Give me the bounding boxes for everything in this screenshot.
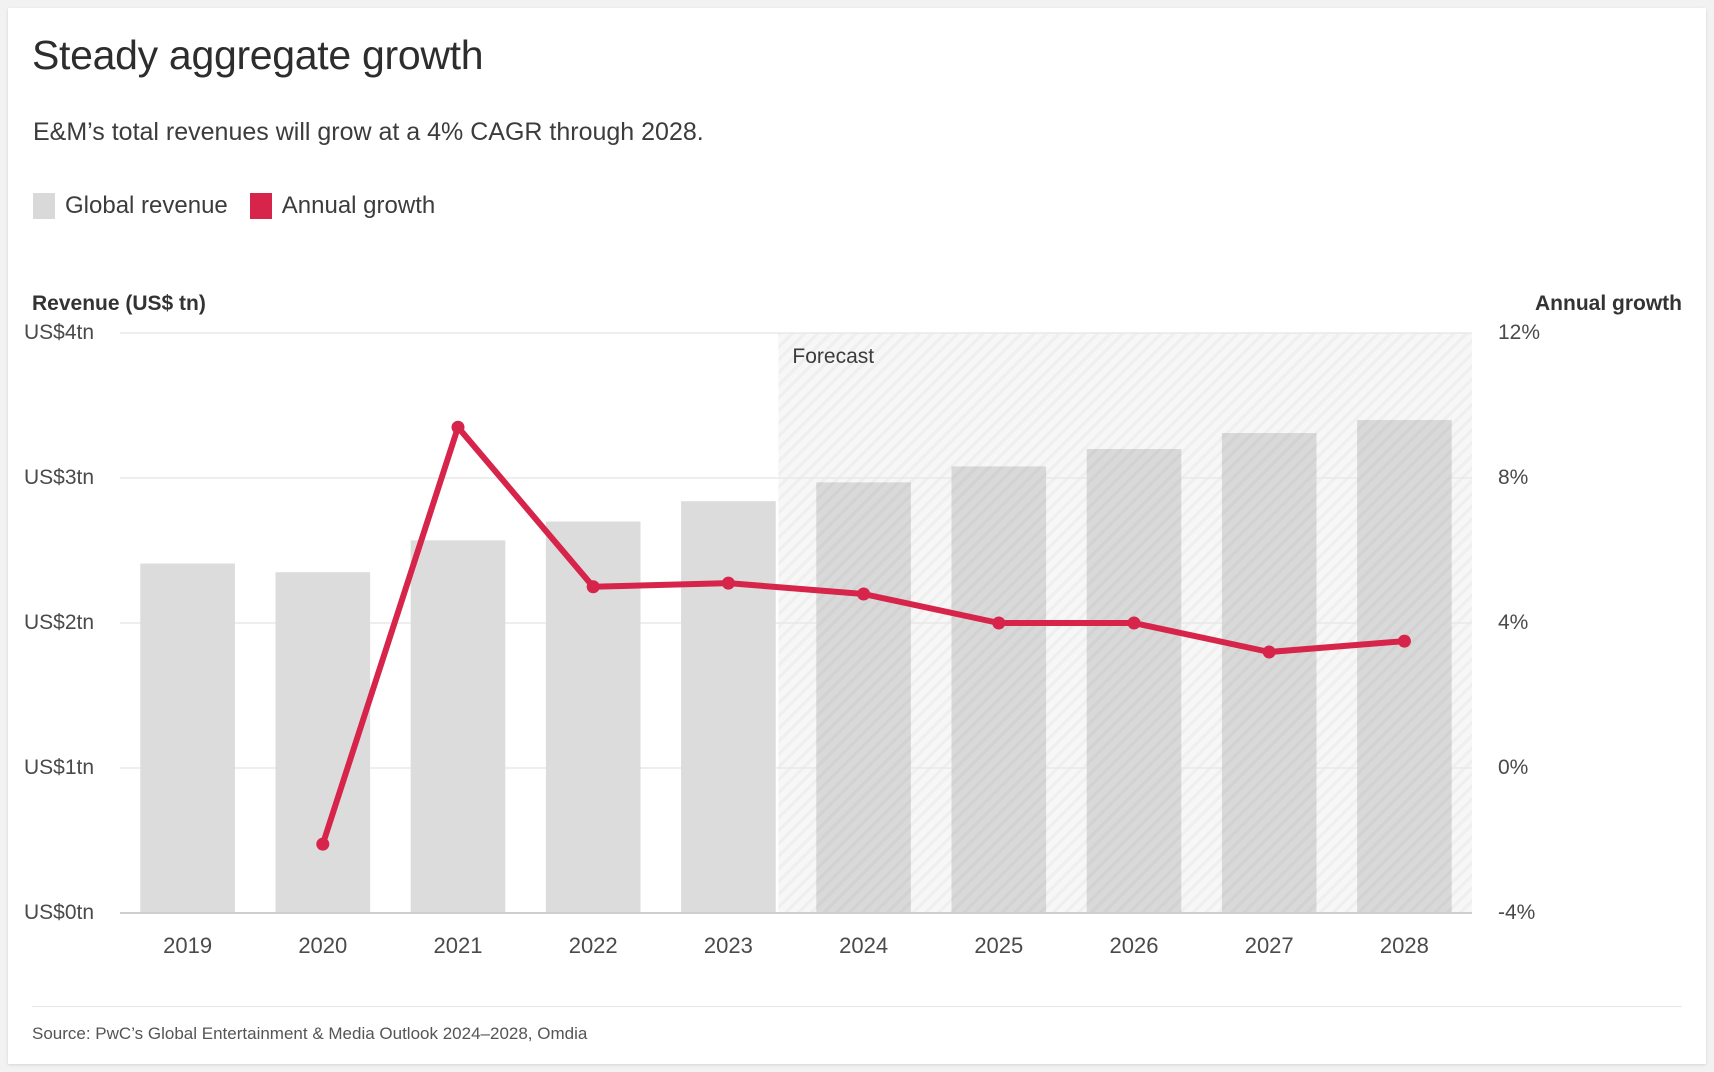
x-axis-tick-label: 2024 xyxy=(839,933,888,959)
bar[interactable] xyxy=(681,501,776,913)
source-note: Source: PwC’s Global Entertainment & Med… xyxy=(32,1024,587,1044)
legend-item-global-revenue[interactable]: Global revenue xyxy=(33,192,228,220)
x-axis-tick-label: 2023 xyxy=(704,933,753,959)
x-axis-tick-label: 2022 xyxy=(569,933,618,959)
square-swatch-icon xyxy=(250,193,272,219)
left-axis-tick-label: US$4tn xyxy=(24,321,94,345)
right-axis-tick-label: 4% xyxy=(1498,611,1528,635)
line-point[interactable] xyxy=(1263,646,1276,659)
x-axis-tick-label: 2019 xyxy=(163,933,212,959)
bar[interactable] xyxy=(546,522,641,914)
left-axis-title: Revenue (US$ tn) xyxy=(32,292,206,316)
line-point[interactable] xyxy=(857,588,870,601)
right-axis-tick-label: -4% xyxy=(1498,901,1535,925)
left-axis-tick-label: US$0tn xyxy=(24,901,94,925)
line-point[interactable] xyxy=(1398,635,1411,648)
line-point[interactable] xyxy=(316,838,329,851)
legend-item-annual-growth[interactable]: Annual growth xyxy=(250,192,435,220)
chart-legend: Global revenue Annual growth xyxy=(33,192,435,220)
gridlines xyxy=(120,333,1472,913)
bar[interactable] xyxy=(411,540,506,913)
chart-plot xyxy=(8,8,1706,1064)
line-point[interactable] xyxy=(452,421,465,434)
left-axis-tick-label: US$2tn xyxy=(24,611,94,635)
right-axis-tick-label: 12% xyxy=(1498,321,1540,345)
page-subtitle: E&M’s total revenues will grow at a 4% C… xyxy=(33,118,704,147)
bar[interactable] xyxy=(1357,420,1452,913)
left-axis-tick-label: US$1tn xyxy=(24,756,94,780)
right-axis-title: Annual growth xyxy=(1535,292,1682,316)
forecast-band xyxy=(778,333,1472,913)
bar[interactable] xyxy=(816,482,911,913)
line-series xyxy=(316,421,1411,851)
x-axis-tick-label: 2028 xyxy=(1380,933,1429,959)
bar[interactable] xyxy=(951,466,1046,913)
line-point[interactable] xyxy=(587,580,600,593)
bar-series xyxy=(140,420,1451,913)
left-axis-tick-label: US$3tn xyxy=(24,466,94,490)
right-axis-tick-label: 8% xyxy=(1498,466,1528,490)
legend-label: Annual growth xyxy=(282,192,435,220)
forecast-label: Forecast xyxy=(792,345,874,369)
page-title: Steady aggregate growth xyxy=(32,32,483,79)
footer-divider xyxy=(32,1006,1682,1007)
x-axis-tick-label: 2020 xyxy=(298,933,347,959)
bar[interactable] xyxy=(275,572,370,913)
square-swatch-icon xyxy=(33,193,55,219)
bar[interactable] xyxy=(140,564,235,913)
x-axis-tick-label: 2026 xyxy=(1110,933,1159,959)
right-axis-tick-label: 0% xyxy=(1498,756,1528,780)
line-point[interactable] xyxy=(1128,617,1141,630)
bar[interactable] xyxy=(1087,449,1182,913)
x-axis-tick-label: 2021 xyxy=(434,933,483,959)
line-point[interactable] xyxy=(722,577,735,590)
x-axis-tick-label: 2027 xyxy=(1245,933,1294,959)
line-point[interactable] xyxy=(992,617,1005,630)
bar[interactable] xyxy=(1222,433,1317,913)
chart-card: Steady aggregate growth E&M’s total reve… xyxy=(8,8,1706,1064)
legend-label: Global revenue xyxy=(65,192,228,220)
x-axis-tick-label: 2025 xyxy=(974,933,1023,959)
